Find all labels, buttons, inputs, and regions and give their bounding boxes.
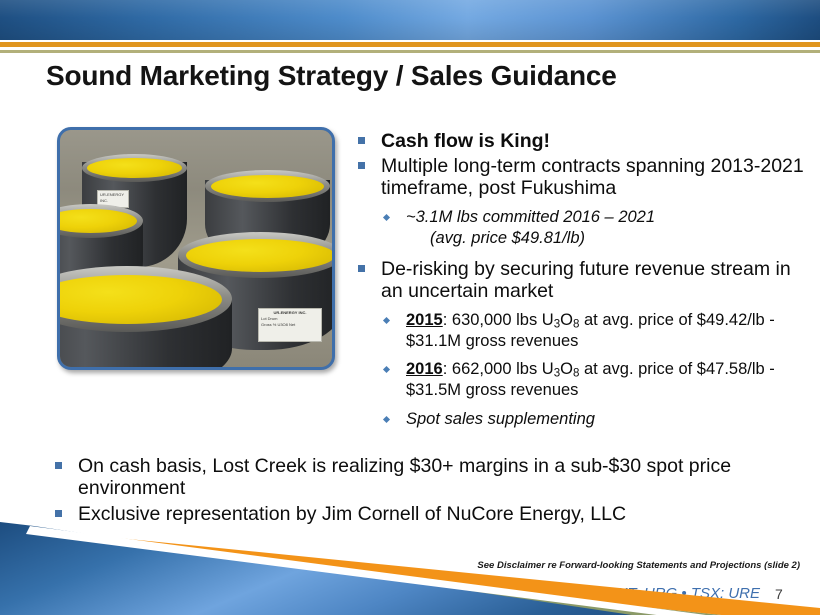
bullet-exclusive-representation: Exclusive representation by Jim Cornell … <box>52 503 792 525</box>
footer-orange-stripe <box>40 531 820 615</box>
subbullet-2015-pre: : 630,000 lbs U <box>443 311 554 329</box>
bullet-cash-flow: Cash flow is King! <box>356 130 806 152</box>
main-bullet-list: Cash flow is King! Multiple long-term co… <box>356 130 806 429</box>
yellowcake-drums-photo: UR-ENERGY INC. Lot Drum UR-ENERGY INC. L… <box>57 127 335 370</box>
bottom-bullet-list: On cash basis, Lost Creek is realizing $… <box>52 455 792 529</box>
slide-canvas: Sound Marketing Strategy / Sales Guidanc… <box>0 0 820 615</box>
disclaimer-note: See Disclaimer re Forward-looking Statem… <box>330 560 800 571</box>
drum-fill-back-right <box>211 175 324 198</box>
drum-label-main: UR-ENERGY INC. Lot Drum Gross % U3O8 Net <box>258 308 322 342</box>
drum-label-small-line1: UR-ENERGY INC. <box>100 192 126 204</box>
subbullet-spot-sales: Spot sales supplementing <box>378 410 806 429</box>
bullet-cash-basis-margins: On cash basis, Lost Creek is realizing $… <box>52 455 792 499</box>
subbullet-2016: 2016: 662,000 lbs U3O8 at avg. price of … <box>378 360 806 400</box>
header-white-gap-2 <box>0 53 820 55</box>
photo-image: UR-ENERGY INC. Lot Drum UR-ENERGY INC. L… <box>60 130 332 367</box>
subbullet-2015: 2015: 630,000 lbs U3O8 at avg. price of … <box>378 311 806 351</box>
subbullet-committed: ~3.1M lbs committed 2016 – 2021 <box>378 208 806 227</box>
slide-page-number: 7 <box>775 586 805 602</box>
ticker-line: NYSE MKT: URG • TSX: URE <box>330 585 760 602</box>
bullet-de-risking: De-risking by securing future revenue st… <box>356 258 806 302</box>
subbullet-2016-pre: : 662,000 lbs U <box>443 360 554 378</box>
bullet-contracts: Multiple long-term contracts spanning 20… <box>356 155 806 199</box>
subbullet-2015-mid: O <box>560 311 573 329</box>
subbullet-committed-price: (avg. price $49.81/lb) <box>378 229 806 248</box>
subbullet-2015-year: 2015 <box>406 311 443 329</box>
page-title: Sound Marketing Strategy / Sales Guidanc… <box>46 60 786 92</box>
subbullet-2016-year: 2016 <box>406 360 443 378</box>
drum-fill-back-left <box>87 158 182 178</box>
subbullet-2016-mid: O <box>560 360 573 378</box>
drum-fill-mid-right <box>186 239 332 272</box>
header-band-shading <box>0 0 820 40</box>
drum-label-main-line3: Gross % U3O8 Net <box>261 322 319 328</box>
footer-khaki-stripe <box>34 546 820 615</box>
